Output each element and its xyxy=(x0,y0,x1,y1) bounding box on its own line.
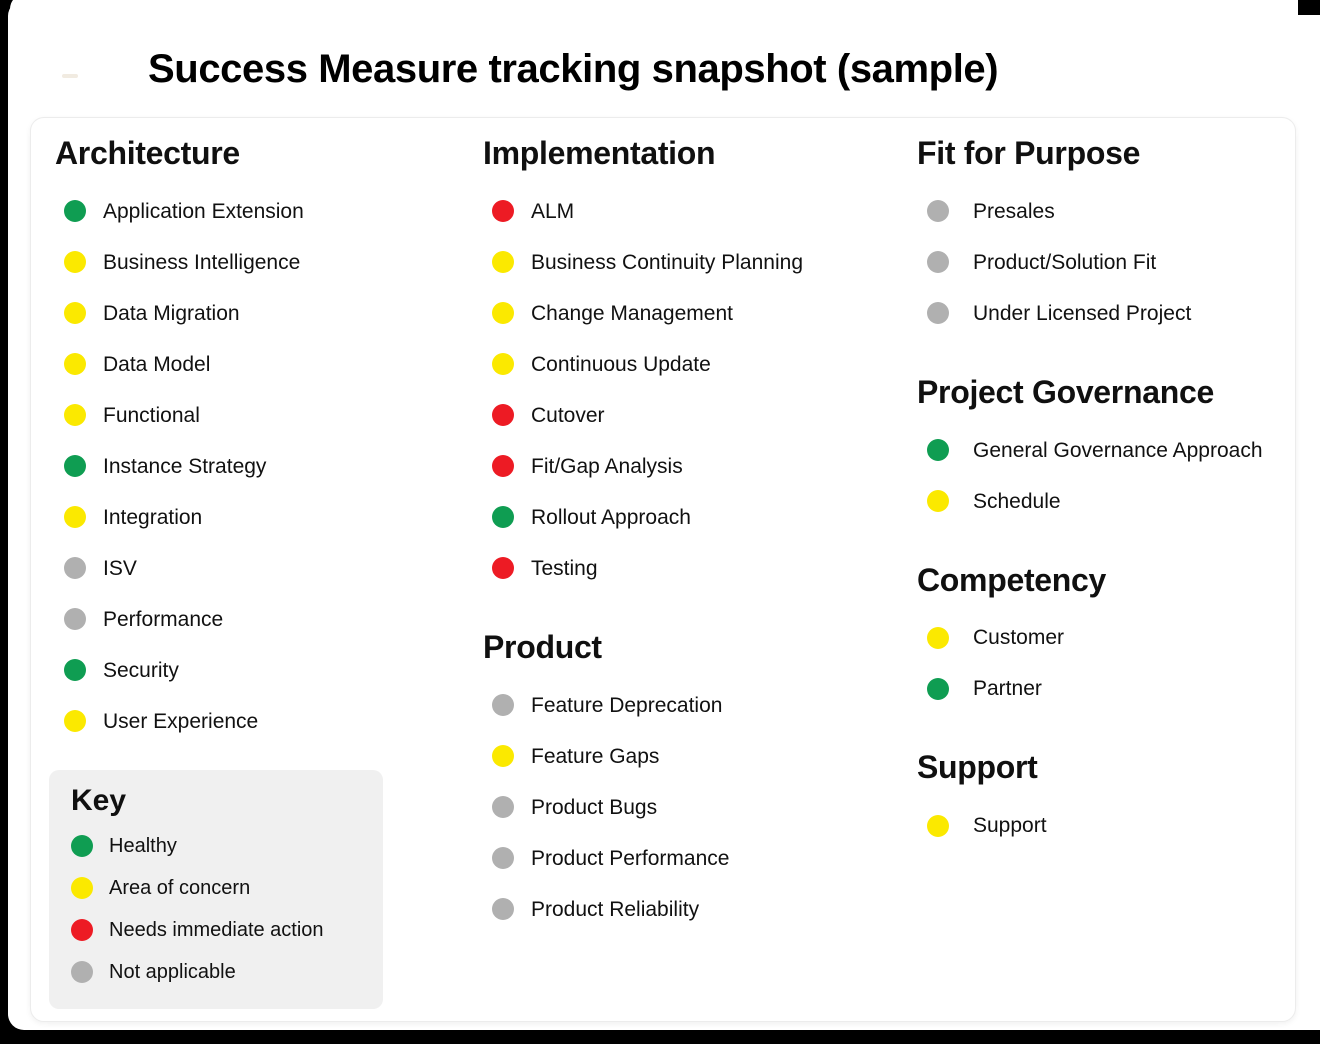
measure-label: User Experience xyxy=(103,711,258,732)
measure-label: Integration xyxy=(103,507,202,528)
measure-item[interactable]: Change Management xyxy=(483,288,913,339)
status-dot-yellow-icon xyxy=(64,251,86,273)
status-dot-yellow-icon xyxy=(492,353,514,375)
status-dot-grey-icon xyxy=(492,847,514,869)
status-dot-green-icon xyxy=(64,200,86,222)
measure-list: PresalesProduct/Solution FitUnder Licens… xyxy=(917,186,1287,339)
page-corner-tab xyxy=(10,0,80,24)
measure-item[interactable]: Testing xyxy=(483,543,913,594)
status-dot-grey-icon xyxy=(927,200,949,222)
measure-group: Project GovernanceGeneral Governance App… xyxy=(917,375,1287,527)
measure-list: General Governance ApproachSchedule xyxy=(917,425,1287,527)
measure-item[interactable]: Application Extension xyxy=(55,186,475,237)
measure-label: Functional xyxy=(103,405,200,426)
measure-label: Feature Deprecation xyxy=(531,695,722,716)
status-dot-yellow-icon xyxy=(71,877,93,899)
measure-label: Partner xyxy=(973,678,1042,699)
key-legend-item: Healthy xyxy=(67,825,365,867)
measure-item[interactable]: Performance xyxy=(55,594,475,645)
status-dot-yellow-icon xyxy=(927,815,949,837)
measure-label: ISV xyxy=(103,558,137,579)
measure-label: Continuous Update xyxy=(531,354,711,375)
status-dot-yellow-icon xyxy=(64,404,86,426)
status-dot-yellow-icon xyxy=(64,710,86,732)
measure-label: Business Intelligence xyxy=(103,252,300,273)
measure-label: Business Continuity Planning xyxy=(531,252,803,273)
status-dot-grey-icon xyxy=(927,251,949,273)
measure-label: Product Reliability xyxy=(531,899,699,920)
measure-item[interactable]: General Governance Approach xyxy=(917,425,1287,476)
key-legend-label: Healthy xyxy=(109,836,177,856)
measure-label: Testing xyxy=(531,558,598,579)
measure-group: SupportSupport xyxy=(917,750,1287,851)
measure-label: General Governance Approach xyxy=(973,440,1263,461)
group-heading: Implementation xyxy=(483,136,913,172)
status-dot-green-icon xyxy=(71,835,93,857)
measure-item[interactable]: Integration xyxy=(55,492,475,543)
status-dot-green-icon xyxy=(927,439,949,461)
status-dot-green-icon xyxy=(64,455,86,477)
key-legend-label: Needs immediate action xyxy=(109,920,324,940)
measure-label: Product/Solution Fit xyxy=(973,252,1156,273)
status-dot-green-icon xyxy=(492,506,514,528)
key-legend-label: Area of concern xyxy=(109,878,250,898)
measure-item[interactable]: Continuous Update xyxy=(483,339,913,390)
key-legend-box: Key HealthyArea of concernNeeds immediat… xyxy=(49,770,383,1009)
status-dot-yellow-icon xyxy=(64,353,86,375)
measure-label: Cutover xyxy=(531,405,605,426)
status-dot-red-icon xyxy=(492,404,514,426)
measure-item[interactable]: Instance Strategy xyxy=(55,441,475,492)
key-legend-label: Not applicable xyxy=(109,962,236,982)
measure-item[interactable]: User Experience xyxy=(55,696,475,747)
status-dot-yellow-icon xyxy=(492,745,514,767)
measure-label: Customer xyxy=(973,627,1064,648)
measure-group: ImplementationALMBusiness Continuity Pla… xyxy=(483,136,913,594)
measure-label: Application Extension xyxy=(103,201,304,222)
column-architecture: ArchitectureApplication ExtensionBusines… xyxy=(55,136,475,747)
status-dot-red-icon xyxy=(492,200,514,222)
key-legend-list: HealthyArea of concernNeeds immediate ac… xyxy=(67,825,365,993)
measure-item[interactable]: Schedule xyxy=(917,476,1287,527)
status-dot-yellow-icon xyxy=(927,490,949,512)
measure-item[interactable]: Business Continuity Planning xyxy=(483,237,913,288)
status-dot-green-icon xyxy=(64,659,86,681)
measure-group: ProductFeature DeprecationFeature GapsPr… xyxy=(483,630,913,935)
status-dot-grey-icon xyxy=(927,302,949,324)
status-dot-yellow-icon xyxy=(492,251,514,273)
measure-label: ALM xyxy=(531,201,574,222)
measure-label: Support xyxy=(973,815,1047,836)
measure-label: Performance xyxy=(103,609,223,630)
page-title: Success Measure tracking snapshot (sampl… xyxy=(148,47,998,92)
measure-item[interactable]: Fit/Gap Analysis xyxy=(483,441,913,492)
measure-item[interactable]: Product Bugs xyxy=(483,782,913,833)
measure-item[interactable]: Data Model xyxy=(55,339,475,390)
measure-item[interactable]: Support xyxy=(917,800,1287,851)
status-dot-grey-icon xyxy=(492,796,514,818)
measure-item[interactable]: Rollout Approach xyxy=(483,492,913,543)
measure-item[interactable]: Cutover xyxy=(483,390,913,441)
measure-item[interactable]: Functional xyxy=(55,390,475,441)
column-implementation: ImplementationALMBusiness Continuity Pla… xyxy=(483,136,913,935)
columns-container: ArchitectureApplication ExtensionBusines… xyxy=(31,118,1295,1021)
status-dot-red-icon xyxy=(492,455,514,477)
measure-label: Under Licensed Project xyxy=(973,303,1191,324)
status-dot-grey-icon xyxy=(492,694,514,716)
snapshot-card: ArchitectureApplication ExtensionBusines… xyxy=(30,117,1296,1022)
measure-item[interactable]: Product Performance xyxy=(483,833,913,884)
measure-item[interactable]: ALM xyxy=(483,186,913,237)
measure-list: CustomerPartner xyxy=(917,612,1287,714)
measure-item[interactable]: Feature Gaps xyxy=(483,731,913,782)
measure-list: Feature DeprecationFeature GapsProduct B… xyxy=(483,680,913,935)
measure-item[interactable]: Business Intelligence xyxy=(55,237,475,288)
measure-item[interactable]: Under Licensed Project xyxy=(917,288,1287,339)
measure-item[interactable]: Data Migration xyxy=(55,288,475,339)
measure-item[interactable]: Partner xyxy=(917,663,1287,714)
measure-label: Data Model xyxy=(103,354,210,375)
group-heading: Project Governance xyxy=(917,375,1287,411)
measure-item[interactable]: Presales xyxy=(917,186,1287,237)
status-dot-green-icon xyxy=(927,678,949,700)
key-legend-item: Not applicable xyxy=(67,951,365,993)
status-dot-yellow-icon xyxy=(64,302,86,324)
group-heading: Architecture xyxy=(55,136,475,172)
measure-item[interactable]: Product/Solution Fit xyxy=(917,237,1287,288)
measure-label: Change Management xyxy=(531,303,733,324)
measure-label: Product Performance xyxy=(531,848,729,869)
status-dot-grey-icon xyxy=(71,961,93,983)
status-dot-yellow-icon xyxy=(64,506,86,528)
measure-list: Application ExtensionBusiness Intelligen… xyxy=(55,186,475,747)
top-edge-mask xyxy=(1298,0,1320,15)
column-fit-for-purpose: Fit for PurposePresalesProduct/Solution … xyxy=(917,136,1287,851)
status-dot-yellow-icon xyxy=(492,302,514,324)
measure-label: Data Migration xyxy=(103,303,240,324)
page-sheet: Success Measure tracking snapshot (sampl… xyxy=(8,0,1320,1030)
status-dot-grey-icon xyxy=(64,557,86,579)
measure-label: Fit/Gap Analysis xyxy=(531,456,683,477)
measure-group: CompetencyCustomerPartner xyxy=(917,563,1287,715)
measure-list: Support xyxy=(917,800,1287,851)
measure-group: Fit for PurposePresalesProduct/Solution … xyxy=(917,136,1287,339)
status-dot-grey-icon xyxy=(492,898,514,920)
key-heading: Key xyxy=(71,784,365,819)
measure-label: Schedule xyxy=(973,491,1061,512)
measure-label: Instance Strategy xyxy=(103,456,266,477)
key-legend-item: Area of concern xyxy=(67,867,365,909)
measure-item[interactable]: ISV xyxy=(55,543,475,594)
group-heading: Fit for Purpose xyxy=(917,136,1287,172)
group-heading: Product xyxy=(483,630,913,666)
status-dot-grey-icon xyxy=(64,608,86,630)
scan-artifact-mark xyxy=(62,74,78,78)
measure-item[interactable]: Customer xyxy=(917,612,1287,663)
measure-label: Security xyxy=(103,660,179,681)
measure-item[interactable]: Product Reliability xyxy=(483,884,913,935)
group-heading: Support xyxy=(917,750,1287,786)
measure-list: ALMBusiness Continuity PlanningChange Ma… xyxy=(483,186,913,594)
status-dot-yellow-icon xyxy=(927,627,949,649)
key-legend-item: Needs immediate action xyxy=(67,909,365,951)
status-dot-red-icon xyxy=(492,557,514,579)
group-heading: Competency xyxy=(917,563,1287,599)
measure-item[interactable]: Security xyxy=(55,645,475,696)
measure-label: Product Bugs xyxy=(531,797,657,818)
measure-item[interactable]: Feature Deprecation xyxy=(483,680,913,731)
measure-group: ArchitectureApplication ExtensionBusines… xyxy=(55,136,475,747)
measure-label: Feature Gaps xyxy=(531,746,659,767)
status-dot-red-icon xyxy=(71,919,93,941)
measure-label: Rollout Approach xyxy=(531,507,691,528)
measure-label: Presales xyxy=(973,201,1055,222)
